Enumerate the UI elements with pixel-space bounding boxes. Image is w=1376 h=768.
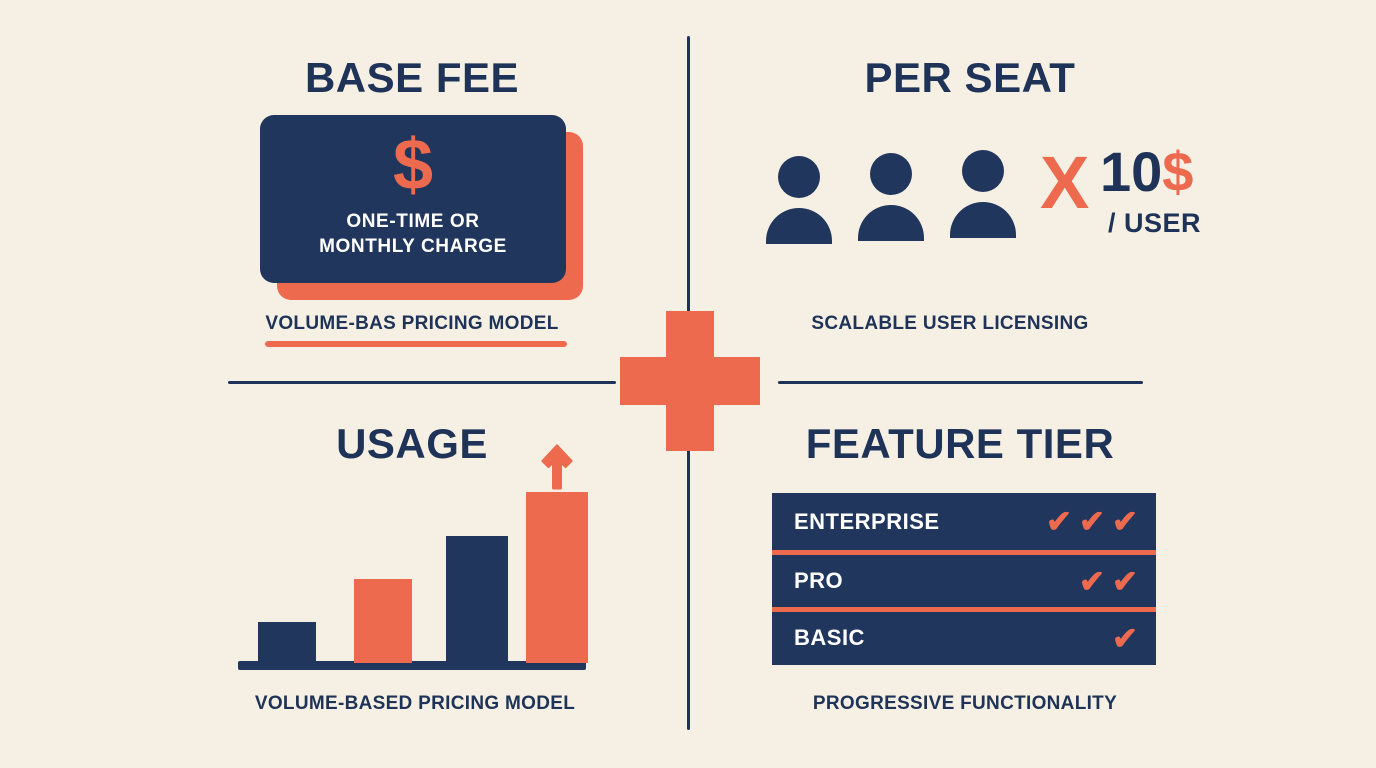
vertical-divider-lower: [687, 448, 690, 730]
feature-tier-title: FEATURE TIER: [770, 420, 1150, 468]
per-seat-price-currency: $: [1162, 140, 1193, 203]
base-fee-card-front: $ ONE-TIME OR MONTHLY CHARGE: [260, 115, 566, 283]
horizontal-divider-left: [228, 381, 616, 384]
person-icon: [950, 150, 1016, 238]
check-icon: ✔: [1079, 506, 1105, 537]
plus-sign-icon: [620, 311, 760, 451]
person-head: [962, 150, 1004, 192]
usage-bar-chart: [238, 470, 588, 670]
per-seat-price-group: X 10$ / USER: [1040, 146, 1230, 256]
check-icon: ✔: [1046, 506, 1072, 537]
person-icon: [766, 156, 832, 244]
base-fee-card-line1: ONE-TIME OR: [319, 209, 507, 234]
base-fee-caption: VOLUME-BAS PRICING MODEL: [212, 313, 612, 335]
per-seat-caption: SCALABLE USER LICENSING: [770, 313, 1130, 335]
chart-bar: [258, 622, 316, 663]
vertical-divider-upper: [687, 36, 690, 314]
tier-label: ENTERPRISE: [794, 509, 940, 535]
horizontal-divider-right: [778, 381, 1143, 384]
check-icon: ✔: [1112, 623, 1138, 654]
check-icon: ✔: [1112, 566, 1138, 597]
person-head: [870, 153, 912, 195]
person-body: [858, 205, 924, 241]
base-fee-card-line2: MONTHLY CHARGE: [319, 234, 507, 259]
multiply-icon: X: [1040, 146, 1089, 220]
person-icon: [858, 153, 924, 241]
check-icon: ✔: [1112, 506, 1138, 537]
tier-check-group: ✔✔: [1079, 566, 1138, 597]
chart-bar: [354, 579, 412, 663]
tier-row[interactable]: BASIC✔: [772, 607, 1156, 664]
person-head: [778, 156, 820, 198]
feature-tier-table: ENTERPRISE✔✔✔PRO✔✔BASIC✔: [772, 493, 1156, 665]
base-fee-caption-underline: [265, 341, 567, 347]
arrow-up-icon: [540, 442, 574, 490]
plus-vertical-bar: [666, 311, 714, 451]
person-body: [950, 202, 1016, 238]
per-seat-price: 10$: [1100, 144, 1193, 200]
per-seat-title: PER SEAT: [770, 54, 1170, 102]
chart-bar: [526, 492, 588, 663]
dollar-sign-icon: $: [393, 133, 433, 198]
per-seat-price-amount: 10: [1100, 140, 1162, 203]
base-fee-title: BASE FEE: [212, 54, 612, 102]
tier-label: BASIC: [794, 625, 865, 651]
person-body: [766, 208, 832, 244]
per-seat-price-unit: / USER: [1108, 208, 1201, 239]
infographic-canvas: BASE FEE $ ONE-TIME OR MONTHLY CHARGE VO…: [0, 0, 1376, 768]
tier-row[interactable]: ENTERPRISE✔✔✔: [772, 493, 1156, 550]
check-icon: ✔: [1079, 566, 1105, 597]
tier-check-group: ✔✔✔: [1046, 506, 1138, 537]
tier-check-group: ✔: [1112, 623, 1138, 654]
usage-caption: VOLUME-BASED PRICING MODEL: [195, 693, 635, 715]
chart-bar: [446, 536, 508, 663]
base-fee-card-text: ONE-TIME OR MONTHLY CHARGE: [319, 209, 507, 259]
feature-tier-caption: PROGRESSIVE FUNCTIONALITY: [770, 693, 1160, 715]
tier-label: PRO: [794, 568, 843, 594]
tier-row[interactable]: PRO✔✔: [772, 550, 1156, 607]
base-fee-card: $ ONE-TIME OR MONTHLY CHARGE: [260, 115, 580, 300]
